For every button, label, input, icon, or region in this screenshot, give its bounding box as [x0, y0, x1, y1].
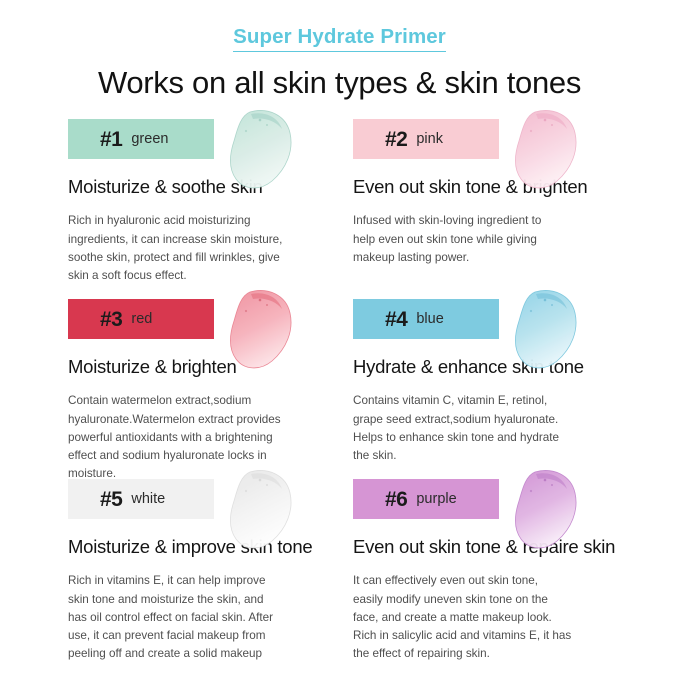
panel-3-label-bar: #3 red — [68, 299, 214, 339]
panel-2-number: #2 — [385, 129, 407, 150]
panel-6-number: #6 — [385, 489, 407, 510]
panel-1-heading: Moisturize & soothe skin — [68, 176, 353, 198]
panel-3-color-name: red — [131, 312, 152, 327]
panel-4-number: #4 — [385, 309, 407, 330]
panel-6-color-name: purple — [416, 492, 456, 507]
panel-6: #6 purple Even out skin tone & repaire s… — [353, 479, 638, 659]
panel-2-heading: Even out skin tone & brighten — [353, 176, 638, 198]
panel-2: #2 pink Even out skin tone & brighten In… — [353, 119, 638, 299]
panel-5-label-bar: #5 white — [68, 479, 214, 519]
panel-6-label-bar: #6 purple — [353, 479, 499, 519]
panel-4-color-name: blue — [416, 312, 443, 327]
panel-2-body: Infused with skin-loving ingredient to h… — [353, 212, 615, 266]
panel-5-number: #5 — [100, 489, 122, 510]
panel-4: #4 blue Hydrate & enhance skin tone Cont… — [353, 299, 638, 479]
panel-5-color-name: white — [131, 492, 165, 507]
panel-5: #5 white Moisturize & improve skin tone … — [68, 479, 353, 659]
product-title-link[interactable]: Super Hydrate Primer — [233, 26, 446, 52]
panel-1-label-bar: #1 green — [68, 119, 214, 159]
panel-6-body: It can effectively even out skin tone, e… — [353, 572, 615, 663]
panel-6-heading: Even out skin tone & repaire skin — [353, 536, 638, 558]
panel-5-heading: Moisturize & improve skin tone — [68, 536, 353, 558]
panel-3: #3 red Moisturize & brighten Contain wat… — [68, 299, 353, 479]
panel-4-label-bar: #4 blue — [353, 299, 499, 339]
panel-1: #1 green Moisturize & soothe skin Rich i… — [68, 119, 353, 299]
panel-1-number: #1 — [100, 129, 122, 150]
panel-1-body: Rich in hyaluronic acid moisturizing ing… — [68, 212, 330, 285]
page-title: Works on all skin types & skin tones — [0, 65, 679, 101]
panel-1-color-name: green — [131, 132, 168, 147]
infographic-page: Super Hydrate Primer Works on all skin t… — [0, 0, 679, 679]
page-header: Super Hydrate Primer Works on all skin t… — [0, 0, 679, 100]
panel-grid: #1 green Moisturize & soothe skin Rich i… — [0, 119, 679, 659]
panel-4-heading: Hydrate & enhance skin tone — [353, 356, 638, 378]
panel-3-body: Contain watermelon extract,sodium hyalur… — [68, 392, 330, 483]
panel-4-body: Contains vitamin C, vitamin E, retinol, … — [353, 392, 615, 465]
panel-3-number: #3 — [100, 309, 122, 330]
panel-3-heading: Moisturize & brighten — [68, 356, 353, 378]
panel-2-color-name: pink — [416, 132, 443, 147]
panel-5-body: Rich in vitamins E, it can help improve … — [68, 572, 330, 663]
panel-2-label-bar: #2 pink — [353, 119, 499, 159]
